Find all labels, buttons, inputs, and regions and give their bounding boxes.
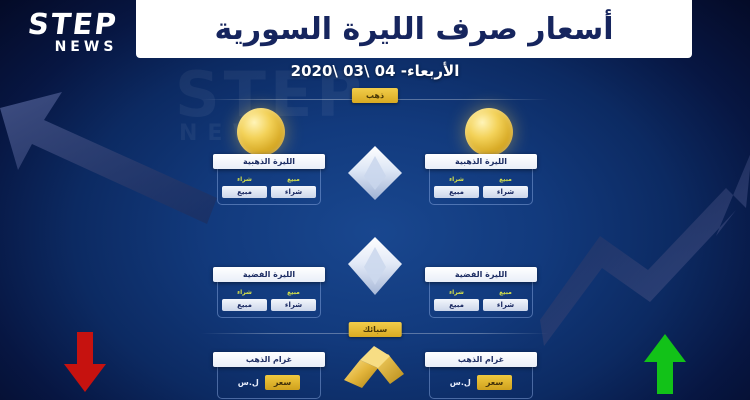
currency-card-silver-left[interactable]: الليرة الفضية شراء مبيع مبيع شراء — [213, 267, 325, 318]
step-news-logo: STEP NEWS — [14, 6, 132, 58]
cell-label: شراء — [449, 289, 464, 296]
card-title: الليرة الفضية — [213, 267, 325, 282]
card-body: شراء مبيع مبيع شراء — [217, 282, 321, 318]
card-cell: مبيع شراء — [483, 289, 528, 311]
unit-label: ل.س — [450, 378, 471, 387]
cell-label: مبيع — [287, 289, 300, 296]
silver-diamond-icon-gold-section — [344, 142, 406, 204]
down-arrow-icon — [62, 332, 108, 394]
card-cell: شراء مبيع — [222, 176, 267, 198]
card-cell: شراء مبيع — [434, 176, 479, 198]
currency-card-bar-left[interactable]: غرام الذهب ل.س سعر — [213, 352, 325, 399]
cell-label: شراء — [449, 176, 464, 183]
cell-value: شراء — [483, 299, 528, 311]
section-badge-gold: ذهب — [352, 88, 398, 103]
cell-value: مبيع — [434, 299, 479, 311]
cell-label: مبيع — [499, 176, 512, 183]
card-title: الليرة الذهبية — [425, 154, 537, 169]
card-body: شراء مبيع مبيع شراء — [429, 169, 533, 205]
date-subtitle: الأربعاء- 04 \03 \2020 — [0, 62, 750, 80]
currency-card-bar-right[interactable]: غرام الذهب ل.س سعر — [425, 352, 537, 399]
cell-value: مبيع — [222, 186, 267, 198]
card-body: شراء مبيع مبيع شراء — [217, 169, 321, 205]
cell-value: شراء — [483, 186, 528, 198]
price-value: سعر — [477, 375, 512, 390]
currency-card-gold-left[interactable]: الليرة الذهبية شراء مبيع مبيع شراء — [213, 154, 325, 205]
card-title: غرام الذهب — [213, 352, 325, 367]
card-title: الليرة الفضية — [425, 267, 537, 282]
card-body: ل.س سعر — [217, 367, 321, 399]
card-cell: شراء مبيع — [434, 289, 479, 311]
up-arrow-icon — [642, 332, 688, 394]
currency-card-gold-right[interactable]: الليرة الذهبية شراء مبيع مبيع شراء — [425, 154, 537, 205]
cell-value: شراء — [271, 299, 316, 311]
title-banner: أسعار صرف الليرة السورية — [136, 0, 692, 58]
section-badge-bars: سبائك — [349, 322, 402, 337]
trend-arrow-up-left-icon — [0, 78, 222, 278]
logo-secondary-text: NEWS — [55, 40, 118, 54]
gold-coin-icon-left — [237, 108, 285, 156]
gold-ingot-icon — [338, 340, 412, 388]
gold-coin-icon-right — [465, 108, 513, 156]
page-title: أسعار صرف الليرة السورية — [214, 12, 613, 47]
cell-label: شراء — [237, 176, 252, 183]
card-body: شراء مبيع مبيع شراء — [429, 282, 533, 318]
cell-value: مبيع — [222, 299, 267, 311]
card-cell: شراء مبيع — [222, 289, 267, 311]
card-title: غرام الذهب — [425, 352, 537, 367]
infographic-canvas: STEP NEWS STEP NEWS أسعار صرف الليرة الس… — [0, 0, 750, 400]
currency-card-silver-right[interactable]: الليرة الفضية شراء مبيع مبيع شراء — [425, 267, 537, 318]
cell-value: مبيع — [434, 186, 479, 198]
card-cell: مبيع شراء — [271, 289, 316, 311]
card-body: ل.س سعر — [429, 367, 533, 399]
cell-label: شراء — [237, 289, 252, 296]
cell-value: شراء — [271, 186, 316, 198]
price-value: سعر — [265, 375, 300, 390]
card-cell: مبيع شراء — [271, 176, 316, 198]
card-cell: مبيع شراء — [483, 176, 528, 198]
unit-label: ل.س — [238, 378, 259, 387]
card-title: الليرة الذهبية — [213, 154, 325, 169]
silver-diamond-icon-silver-section — [344, 235, 406, 297]
cell-label: مبيع — [287, 176, 300, 183]
logo-primary-text: STEP — [26, 10, 119, 39]
cell-label: مبيع — [499, 289, 512, 296]
